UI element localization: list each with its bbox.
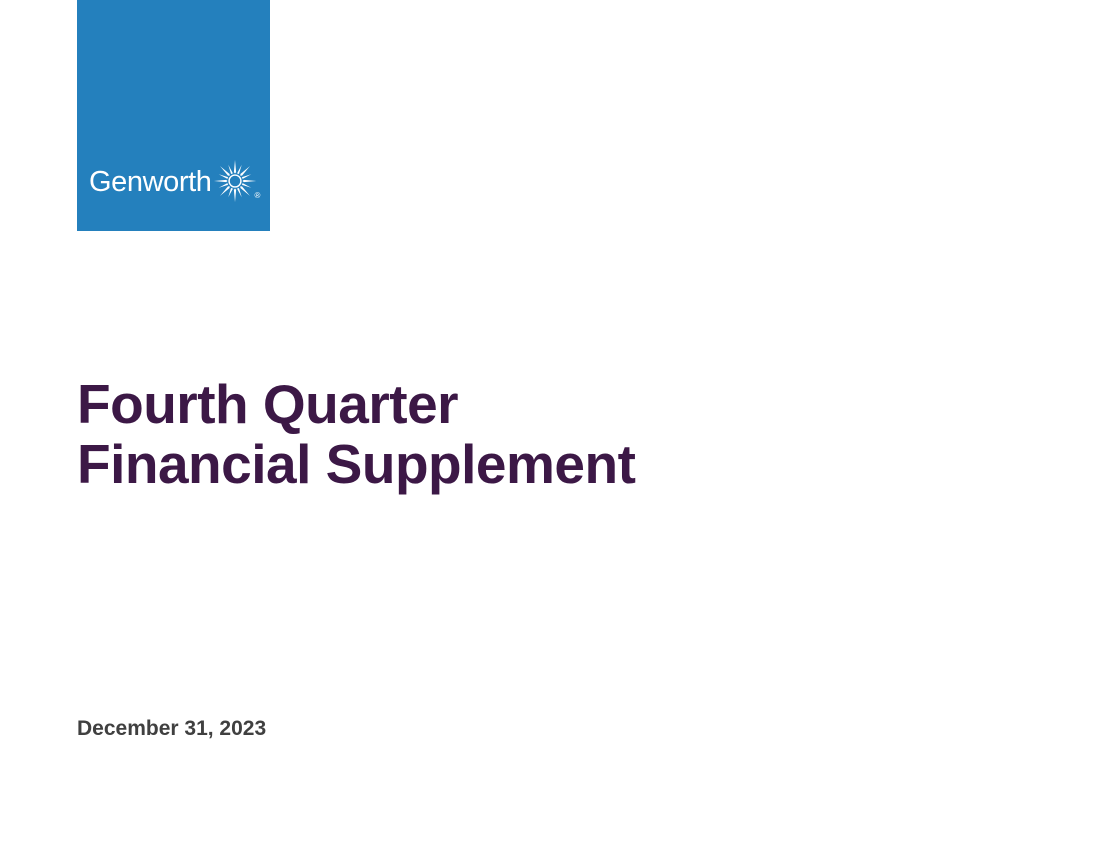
brand-logo-block: Genworth bbox=[77, 0, 270, 231]
genworth-starburst-icon bbox=[213, 159, 257, 203]
cover-page: Genworth bbox=[0, 0, 1104, 864]
genworth-wordmark: Genworth bbox=[89, 168, 212, 197]
report-date: December 31, 2023 bbox=[77, 716, 266, 741]
page-title: Fourth Quarter Financial Supplement bbox=[77, 374, 977, 494]
page-title-line-1: Fourth Quarter bbox=[77, 374, 977, 434]
registered-trademark-icon: ® bbox=[255, 192, 261, 200]
page-title-line-2: Financial Supplement bbox=[77, 434, 977, 494]
logo-lockup: Genworth bbox=[89, 159, 260, 205]
report-date-value: December 31, 2023 bbox=[77, 716, 266, 741]
